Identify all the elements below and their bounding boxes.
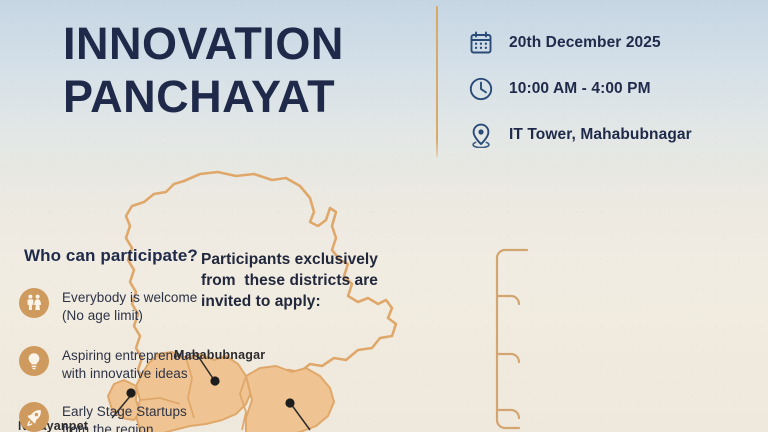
- participate-heading: Who can participate?: [24, 246, 198, 266]
- calendar-icon: [466, 28, 496, 58]
- rocket-icon: [19, 402, 49, 432]
- participate-item-text-2: Early Stage Startups from the region: [62, 402, 187, 432]
- detail-row-time: 10:00 AM - 4:00 PM: [466, 66, 766, 112]
- callout-line-3: invited to apply:: [201, 291, 433, 312]
- participate-item-everybody: Everybody is welcome (No age limit): [19, 288, 197, 325]
- detail-row-venue: IT Tower, Mahabubnagar: [466, 112, 766, 158]
- people-icon: [19, 288, 49, 318]
- lightbulb-icon: [19, 346, 49, 376]
- district-callout: Participants exclusively from these dist…: [201, 249, 433, 312]
- participate-item-startups: Early Stage Startups from the region: [19, 402, 187, 432]
- detail-text-venue: IT Tower, Mahabubnagar: [509, 126, 692, 144]
- detail-text-time: 10:00 AM - 4:00 PM: [509, 80, 651, 98]
- vertical-divider: [436, 6, 438, 158]
- callout-line-1: Participants exclusively: [201, 249, 433, 270]
- detail-text-date: 20th December 2025: [509, 34, 661, 52]
- bracket-connector: [489, 244, 533, 432]
- event-details-list: 20th December 2025 10:00 AM - 4:00 PM IT…: [466, 20, 766, 158]
- participate-item-text-0: Everybody is welcome (No age limit): [62, 288, 197, 325]
- title-line-2: PANCHAYAT: [63, 70, 423, 123]
- participate-item-text-1: Aspiring entrepreneurs with innovative i…: [62, 346, 200, 383]
- title-line-1: INNOVATION: [63, 17, 423, 70]
- participate-item-entrepreneurs: Aspiring entrepreneurs with innovative i…: [19, 346, 200, 383]
- poster-canvas: INNOVATION PANCHAYAT: [0, 0, 768, 432]
- detail-row-date: 20th December 2025: [466, 20, 766, 66]
- clock-icon: [466, 74, 496, 104]
- participate-section: [489, 244, 768, 432]
- location-pin-icon: [466, 120, 496, 150]
- callout-line-2: from these districts are: [201, 270, 433, 291]
- page-title: INNOVATION PANCHAYAT: [63, 17, 423, 123]
